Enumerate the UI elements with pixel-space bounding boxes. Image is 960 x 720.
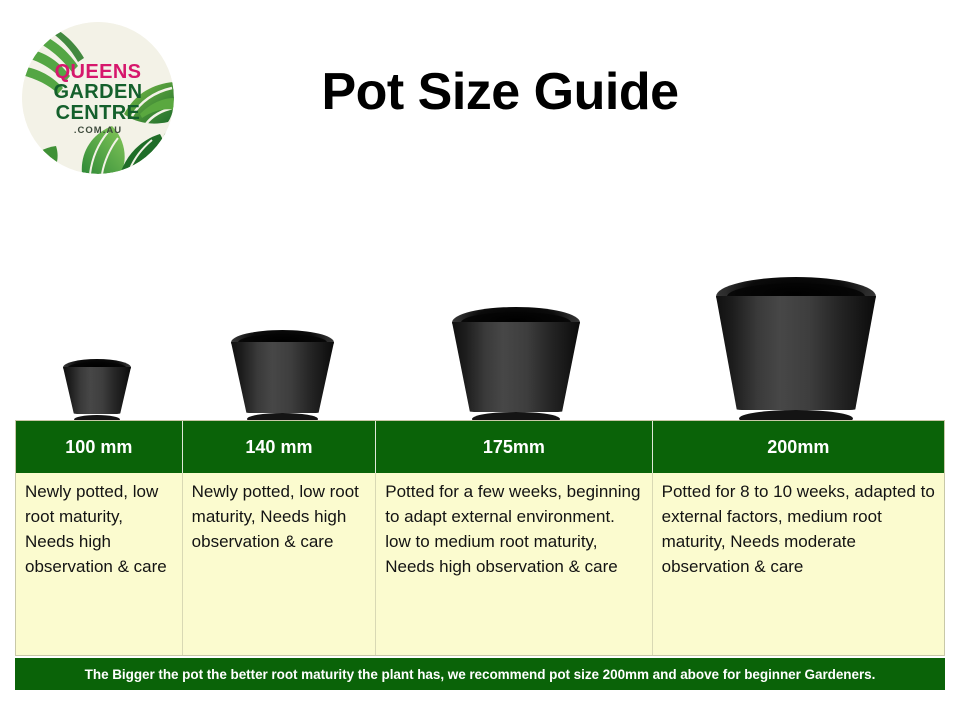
table-cell-140mm-description: Newly potted, low root maturity, Needs h… xyxy=(183,473,377,655)
table-header-cell-200mm: 200mm xyxy=(653,421,944,473)
table-body-row: Newly potted, low root maturity, Needs h… xyxy=(16,473,944,655)
pot-body xyxy=(452,322,580,412)
pot-body xyxy=(231,342,334,413)
page-title: Pot Size Guide xyxy=(200,62,800,122)
table-header-cell-140mm: 140 mm xyxy=(183,421,377,473)
pot-slot-100mm xyxy=(63,359,131,420)
table-cell-100mm-description: Newly potted, low root maturity, Needs h… xyxy=(16,473,183,655)
logo-line-garden: GARDEN xyxy=(22,82,174,102)
pot-slot-140mm xyxy=(231,330,334,420)
pot-image-140mm xyxy=(231,330,334,420)
logo-wordmark: QUEENS GARDEN CENTRE .COM.AU xyxy=(22,62,174,136)
table-cell-175mm-description: Potted for a few weeks, beginning to ada… xyxy=(376,473,652,655)
logo-line-queens: QUEENS xyxy=(22,62,174,82)
company-logo: QUEENS GARDEN CENTRE .COM.AU xyxy=(22,22,174,174)
pot-image-100mm xyxy=(63,359,131,420)
footer-note-text: The Bigger the pot the better root matur… xyxy=(85,667,876,682)
table-cell-200mm-description: Potted for 8 to 10 weeks, adapted to ext… xyxy=(653,473,944,655)
pot-body xyxy=(63,367,131,414)
pot-slot-200mm xyxy=(716,277,876,420)
footer-banner: The Bigger the pot the better root matur… xyxy=(15,658,945,690)
pot-body xyxy=(716,296,876,410)
logo-line-domain: .COM.AU xyxy=(22,126,174,136)
table-header-cell-100mm: 100 mm xyxy=(16,421,183,473)
pot-slot-175mm xyxy=(452,307,580,420)
table-header-cell-175mm: 175mm xyxy=(376,421,652,473)
logo-line-centre: CENTRE xyxy=(22,103,174,123)
table-header-row: 100 mm 140 mm 175mm 200mm xyxy=(16,421,944,473)
pot-image-200mm xyxy=(716,277,876,420)
pot-image-175mm xyxy=(452,307,580,420)
pot-image-row xyxy=(0,240,960,420)
pot-size-table: 100 mm 140 mm 175mm 200mm Newly potted, … xyxy=(15,420,945,656)
